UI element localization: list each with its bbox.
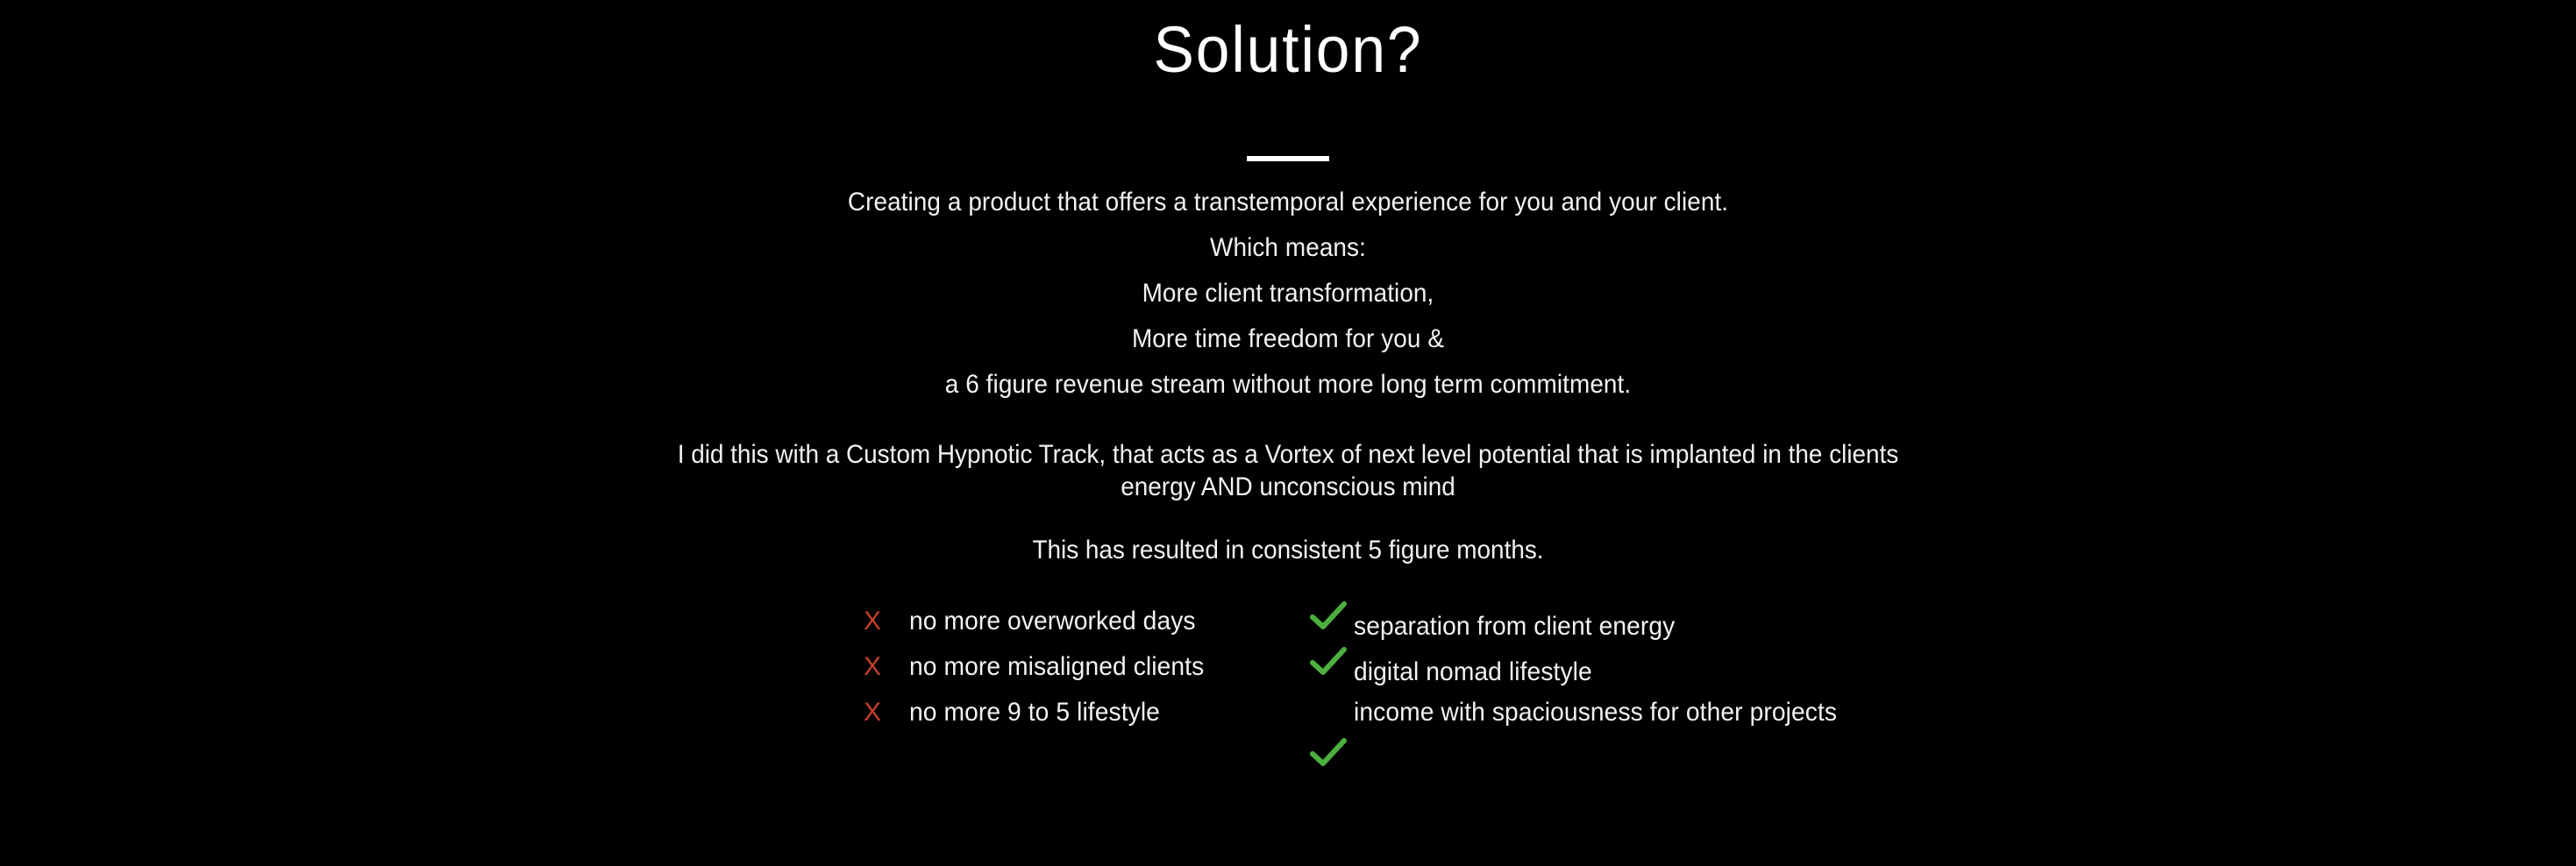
list-item-label: income with spaciousness for other proje…: [1354, 699, 1837, 726]
list-item-label: digital nomad lifestyle: [1354, 659, 1592, 685]
list-item-label: no more 9 to 5 lifestyle: [909, 699, 1160, 726]
slide-root: Solution? Creating a product that offers…: [0, 0, 2576, 866]
body-line-4: More time freedom for you &: [90, 316, 2486, 362]
result-statement: This has resulted in consistent 5 figure…: [0, 533, 2576, 568]
check-icon: [1308, 745, 1354, 771]
result-text: This has resulted in consistent 5 figure…: [90, 533, 2486, 568]
x-icon: X: [864, 608, 909, 635]
page-title: Solution?: [77, 18, 2499, 82]
comparison-lists: X no more overworked days X no more misa…: [0, 608, 2576, 810]
body-copy: Creating a product that offers a transte…: [0, 180, 2576, 408]
body-line-5: a 6 figure revenue stream without more l…: [90, 362, 2486, 408]
paragraph-line-2: energy AND unconscious mind: [619, 471, 1956, 503]
list-item-label: no more misaligned clients: [909, 654, 1204, 680]
list-item: X no more 9 to 5 lifestyle: [864, 699, 1223, 745]
hypnotic-track-paragraph: I did this with a Custom Hypnotic Track,…: [569, 438, 2007, 503]
list-item: X no more misaligned clients: [864, 654, 1223, 699]
body-line-1: Creating a product that offers a transte…: [90, 180, 2486, 225]
list-item-label: separation from client energy: [1354, 614, 1675, 640]
list-item: X no more overworked days: [864, 608, 1223, 654]
paragraph-line-1: I did this with a Custom Hypnotic Track,…: [619, 438, 1956, 471]
body-line-2: Which means:: [90, 225, 2486, 271]
title-block: Solution?: [0, 18, 2576, 82]
title-divider: [1247, 156, 1329, 161]
check-icon: [1308, 608, 1354, 635]
x-icon: X: [864, 699, 909, 726]
list-item: digital nomad lifestyle: [1308, 654, 1868, 699]
list-item-label: no more overworked days: [909, 608, 1196, 635]
list-item: [1308, 745, 1868, 791]
check-icon: [1308, 654, 1354, 680]
x-icon: X: [864, 654, 909, 680]
body-line-3: More client transformation,: [90, 271, 2486, 316]
negatives-column: X no more overworked days X no more misa…: [864, 608, 1223, 745]
list-item: separation from client energy: [1308, 608, 1868, 654]
list-item: income with spaciousness for other proje…: [1308, 699, 1868, 745]
positives-column: separation from client energy digital no…: [1308, 608, 1868, 791]
